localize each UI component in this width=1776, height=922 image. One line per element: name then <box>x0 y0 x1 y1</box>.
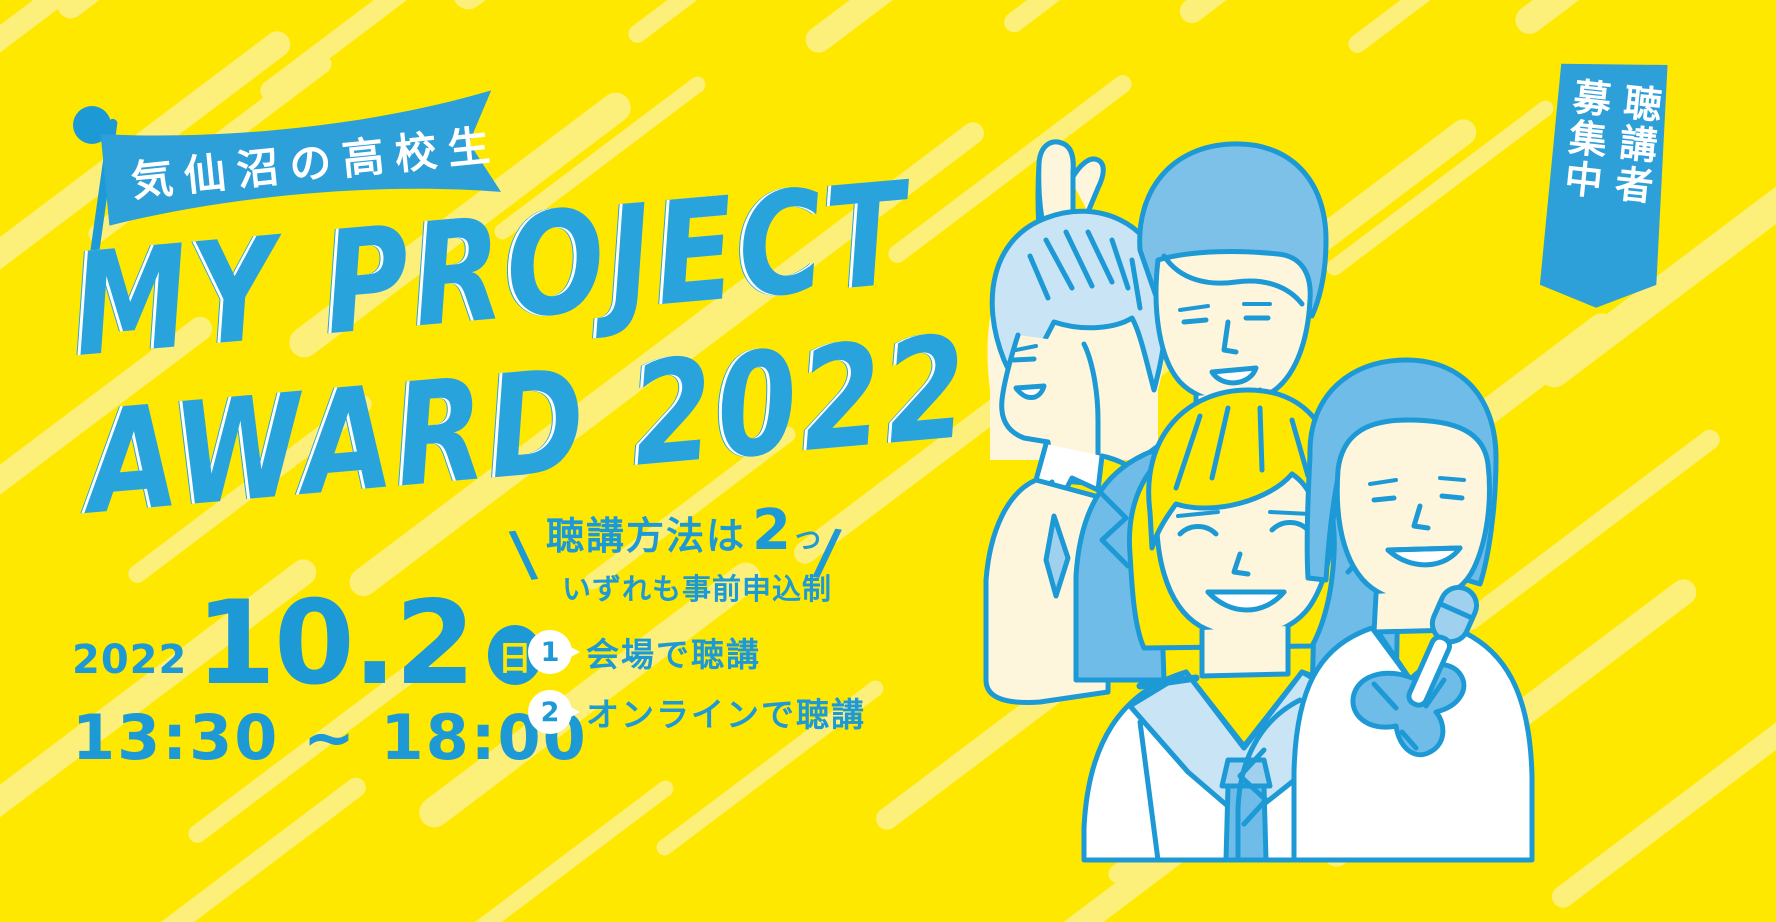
stripe <box>801 0 1200 58</box>
stripe <box>443 777 676 922</box>
stripe <box>1175 0 1525 28</box>
event-time: 13:30 ~ 18:00 <box>72 701 542 774</box>
date-row: 2022 10.2 日 <box>72 596 542 691</box>
event-month-day: 10.2 <box>195 596 473 691</box>
attendance-methods-block: \ \ 聴講方法は 2 つ いずれも事前申込制 1 会場で聴講 2 オンラインで… <box>520 505 900 748</box>
stripe <box>0 0 264 106</box>
stripe <box>256 0 683 104</box>
methods-heading: 聴講方法は 2 つ <box>546 505 900 560</box>
method-label: オンラインで聴講 <box>586 688 866 736</box>
method-label: 会場で聴講 <box>586 628 761 676</box>
list-item: 2 オンラインで聴講 <box>528 688 900 736</box>
stripe <box>1345 0 1595 56</box>
event-date-block: 2022 10.2 日 13:30 ~ 18:00 <box>72 596 542 774</box>
methods-heading-prefix: 聴講方法は <box>546 505 746 560</box>
methods-heading-count: 2 <box>752 506 793 556</box>
event-year: 2022 <box>72 637 187 691</box>
stripe <box>447 0 753 15</box>
stripe <box>625 0 875 46</box>
poster-canvas: 気仙沼の高校生 MY PROJECT AWARD 2022 2022 10.2 … <box>0 0 1776 922</box>
method-number-badge: 2 <box>528 690 572 734</box>
methods-list: 1 会場で聴講 2 オンラインで聴講 <box>528 628 900 736</box>
stripe <box>1000 0 1220 36</box>
stripe <box>1548 690 1776 912</box>
page-title: MY PROJECT AWARD 2022 <box>68 160 974 510</box>
methods-subheading: いずれも事前申込制 <box>562 566 900 608</box>
method-number-badge: 1 <box>528 630 572 674</box>
recruiting-tag: 聴講者 募集中 <box>1545 58 1665 308</box>
stripe <box>1510 0 1776 40</box>
list-item: 1 会場で聴講 <box>528 628 900 676</box>
decor-slash-left: \ <box>508 522 539 587</box>
stripe <box>70 774 370 922</box>
stripe <box>52 0 307 24</box>
